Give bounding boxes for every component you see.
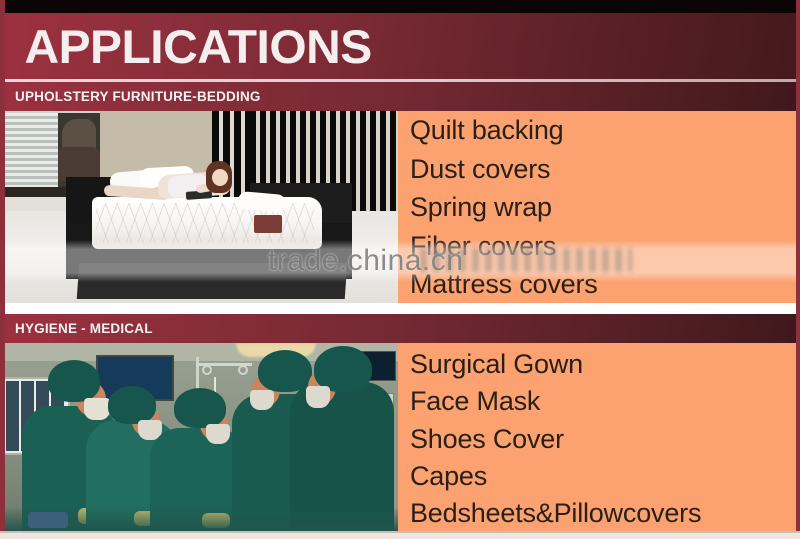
bedroom-scene <box>0 111 398 303</box>
operating-room-surgeons-photo <box>0 343 398 532</box>
mattress-brand-label <box>254 215 282 233</box>
surgeon-figure <box>290 343 394 532</box>
section-header-upholstery: UPHOLSTERY FURNITURE-BEDDING <box>0 82 800 111</box>
section-header-hygiene: HYGIENE - MEDICAL <box>0 314 800 343</box>
title-banner: APPLICATIONS <box>0 13 800 79</box>
instrument-tray <box>28 512 68 528</box>
face-mask <box>306 386 330 408</box>
operating-room-scene <box>0 343 398 532</box>
model-face <box>212 169 228 186</box>
top-black-strip <box>0 0 800 13</box>
list-item: Quilt backing <box>410 111 800 150</box>
list-item: Fiber covers <box>410 227 800 266</box>
frame-edge-bottom <box>0 532 800 539</box>
list-item: Face Mask <box>410 383 800 420</box>
section-body-hygiene: Surgical Gown Face Mask Shoes Cover Cape… <box>0 343 800 532</box>
armchair <box>58 147 100 181</box>
face-mask <box>206 424 230 444</box>
application-list-upholstery: Quilt backing Dust covers Spring wrap Fi… <box>398 111 800 303</box>
application-list-hygiene: Surgical Gown Face Mask Shoes Cover Cape… <box>398 343 800 532</box>
ceiling-hook-1 <box>202 365 212 375</box>
list-item: Shoes Cover <box>410 421 800 458</box>
section-body-upholstery: Quilt backing Dust covers Spring wrap Fi… <box>0 111 800 303</box>
bed-base <box>77 263 348 299</box>
section-header-label: HYGIENE - MEDICAL <box>0 321 153 336</box>
list-item: Spring wrap <box>410 188 800 227</box>
frame-edge-left <box>0 0 5 539</box>
face-mask <box>250 390 274 410</box>
list-item: Mattress covers <box>410 265 800 303</box>
surgical-cap <box>174 388 226 428</box>
bedroom-mattress-photo <box>0 111 398 303</box>
window-blinds <box>2 113 58 187</box>
list-item: Bedsheets&Pillowcovers <box>410 495 800 532</box>
list-item: Capes <box>410 458 800 495</box>
list-item: Dust covers <box>410 150 800 189</box>
applications-poster: APPLICATIONS UPHOLSTERY FURNITURE-BEDDIN… <box>0 0 800 539</box>
list-item: Surgical Gown <box>410 346 800 383</box>
section-header-label: UPHOLSTERY FURNITURE-BEDDING <box>0 89 261 104</box>
frame-bottom-line <box>0 531 800 533</box>
frame-edge-right <box>796 0 800 539</box>
surgical-cap <box>108 386 156 424</box>
page-title: APPLICATIONS <box>0 23 372 70</box>
